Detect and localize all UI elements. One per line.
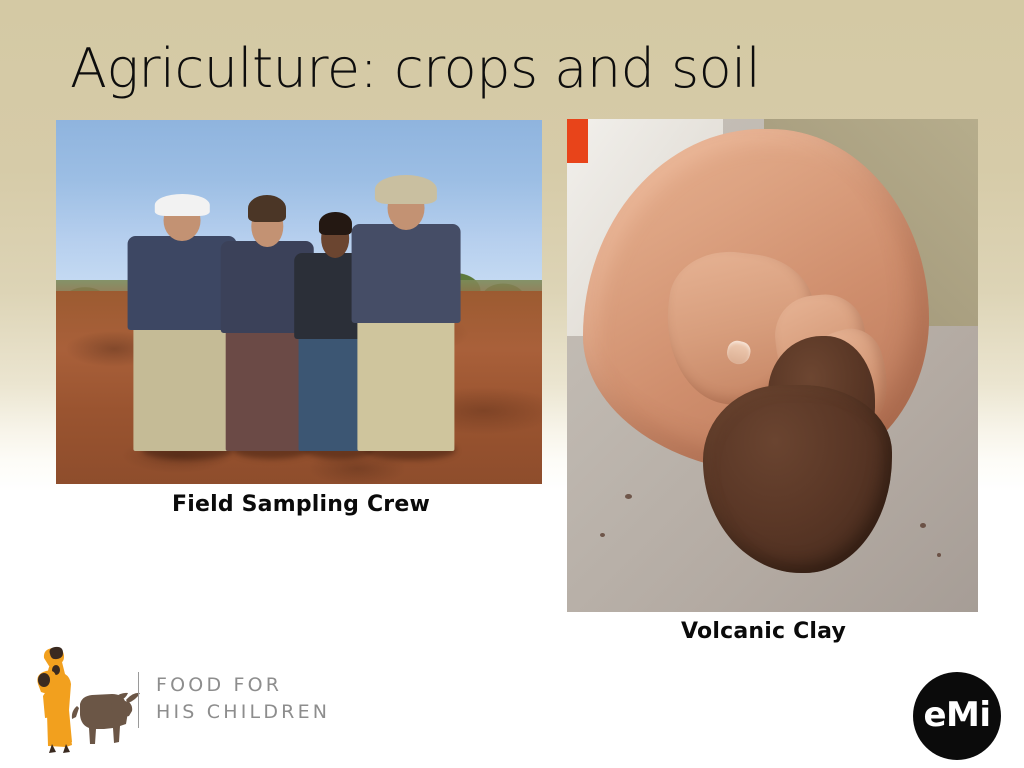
figure-hat [155, 194, 209, 216]
presentation-slide: Agriculture: crops and soil [0, 0, 1024, 768]
figure-bucket-hat [375, 175, 437, 204]
thumbnail [725, 339, 753, 366]
soil-fleck [600, 533, 605, 537]
figure-legs [357, 311, 454, 451]
food-for-his-children-logo: FOOD FOR HIS CHILDREN [14, 640, 344, 760]
figure-hair [319, 212, 351, 235]
photo-volcanic-clay [567, 119, 978, 612]
emi-wordmark: eMi [913, 695, 1001, 735]
figure-legs [226, 322, 309, 451]
logo-divider [138, 672, 139, 728]
caption-volcanic-clay: Volcanic Clay [681, 619, 846, 644]
person-figure [134, 175, 231, 452]
soil-fleck [937, 553, 941, 557]
slide-title: Agriculture: crops and soil [70, 38, 970, 100]
photo-field-sampling-crew [56, 120, 542, 484]
soil-fleck [625, 494, 632, 499]
figure-hair [248, 195, 286, 222]
ffhc-wordmark: FOOD FOR HIS CHILDREN [156, 672, 330, 726]
ffhc-line-1: FOOD FOR [156, 672, 330, 699]
emi-logo: eMi [913, 672, 1001, 760]
woman-and-goat-icon [14, 640, 144, 755]
figure-torso [351, 224, 460, 323]
figure-legs [134, 318, 231, 451]
ffhc-line-2: HIS CHILDREN [156, 699, 330, 726]
caption-field-sampling-crew: Field Sampling Crew [172, 492, 430, 517]
person-figure [357, 160, 454, 451]
orange-object [567, 119, 588, 163]
